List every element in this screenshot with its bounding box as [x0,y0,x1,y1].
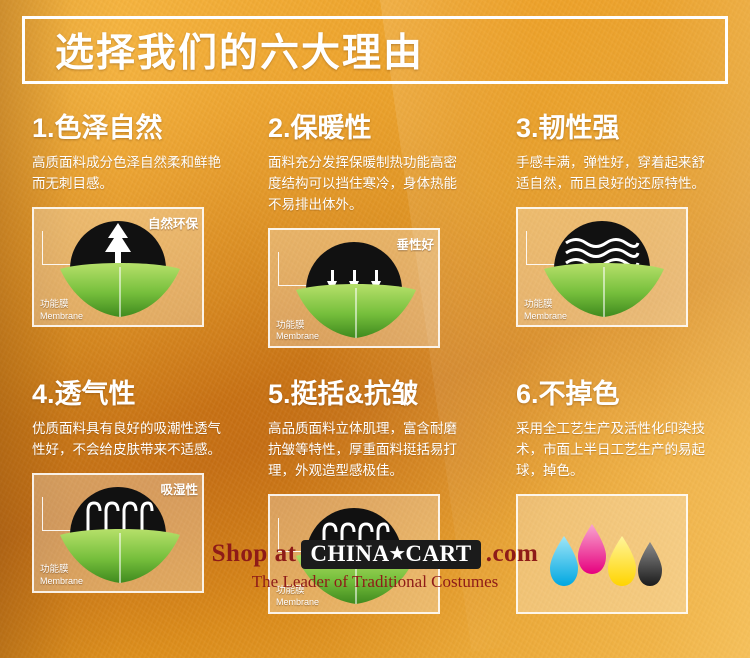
feature-title: 5.挺括&抗皱 [268,372,482,411]
feature-title: 2.保暖性 [268,106,482,145]
page-title: 选择我们的六大理由 [55,22,424,78]
feature-title: 6.不掉色 [516,372,732,411]
membrane-label-en: Membrane [40,311,83,321]
feature-grid: 1.色泽自然 高质面料成分色泽自然柔和鲜艳而无刺目感。 自然环保 [0,96,750,614]
feature-diagram-1: 自然环保 [32,207,204,327]
feature-description: 面料充分发挥保暖制热功能高密度结构可以挡住寒冷，身体热能不易排出体外。 [268,153,464,216]
feature-diagram-3: 功能膜 Membrane [516,207,688,327]
membrane-label-en: Membrane [276,597,319,607]
feature-item-3: 3.韧性强 手感丰满，弹性好，穿着起来舒适自然，而且良好的还原特性。 [500,96,750,348]
feature-diagram-6 [516,494,688,614]
feature-diagram-5: 功能膜 Membrane [268,494,440,614]
feature-item-4: 4.透气性 优质面料具有良好的吸潮性透气性好，不会给皮肤带来不适感。 吸湿性 [0,362,250,614]
membrane-label: 功能膜 Membrane [40,300,83,321]
feature-item-5: 5.挺括&抗皱 高品质面料立体肌理，富含耐磨抗皱等特性，厚重面料挺括易打理，外观… [250,362,500,614]
membrane-label-cn: 功能膜 [276,586,319,597]
feature-description: 优质面料具有良好的吸潮性透气性好，不会给皮肤带来不适感。 [32,419,228,461]
feature-description: 高质面料成分色泽自然柔和鲜艳而无刺目感。 [32,153,228,195]
membrane-label: 功能膜 Membrane [276,321,319,342]
membrane-label-cn: 功能膜 [40,565,83,576]
badge-tag-label: 自然环保 [148,213,198,232]
feature-description: 高品质面料立体肌理，富含耐磨抗皱等特性，厚重面料挺括易打理，外观造型感极佳。 [268,419,464,482]
promo-poster: 选择我们的六大理由 1.色泽自然 高质面料成分色泽自然柔和鲜艳而无刺目感。 自然… [0,0,750,658]
feature-description: 手感丰满，弹性好，穿着起来舒适自然，而且良好的还原特性。 [516,153,712,195]
feature-description: 采用全工艺生产及活性化印染技术，市面上半日工艺生产的易起球，掉色。 [516,419,712,482]
membrane-label-en: Membrane [276,331,319,341]
feature-diagram-4: 吸湿性 [32,473,204,593]
membrane-label: 功能膜 Membrane [276,586,319,607]
membrane-label: 功能膜 Membrane [40,565,83,586]
header-banner: 选择我们的六大理由 [22,16,728,84]
membrane-label-en: Membrane [40,576,83,586]
membrane-label-cn: 功能膜 [40,300,83,311]
feature-item-1: 1.色泽自然 高质面料成分色泽自然柔和鲜艳而无刺目感。 自然环保 [0,96,250,348]
membrane-label-en: Membrane [524,311,567,321]
cmyk-droplets-icon [530,502,678,610]
feature-diagram-2: 垂性好 [268,228,440,348]
feature-item-6: 6.不掉色 采用全工艺生产及活性化印染技术，市面上半日工艺生产的易起球，掉色。 [500,362,750,614]
feature-title: 3.韧性强 [516,106,732,145]
feature-item-2: 2.保暖性 面料充分发挥保暖制热功能高密度结构可以挡住寒冷，身体热能不易排出体外… [250,96,500,348]
membrane-label: 功能膜 Membrane [524,300,567,321]
membrane-label-cn: 功能膜 [524,300,567,311]
badge-tag-label: 垂性好 [396,234,434,253]
feature-title: 1.色泽自然 [32,106,232,145]
feature-row-1: 1.色泽自然 高质面料成分色泽自然柔和鲜艳而无刺目感。 自然环保 [0,96,750,348]
feature-row-2: 4.透气性 优质面料具有良好的吸潮性透气性好，不会给皮肤带来不适感。 吸湿性 [0,362,750,614]
membrane-label-cn: 功能膜 [276,321,319,332]
feature-title: 4.透气性 [32,372,232,411]
badge-tag-label: 吸湿性 [160,479,198,498]
